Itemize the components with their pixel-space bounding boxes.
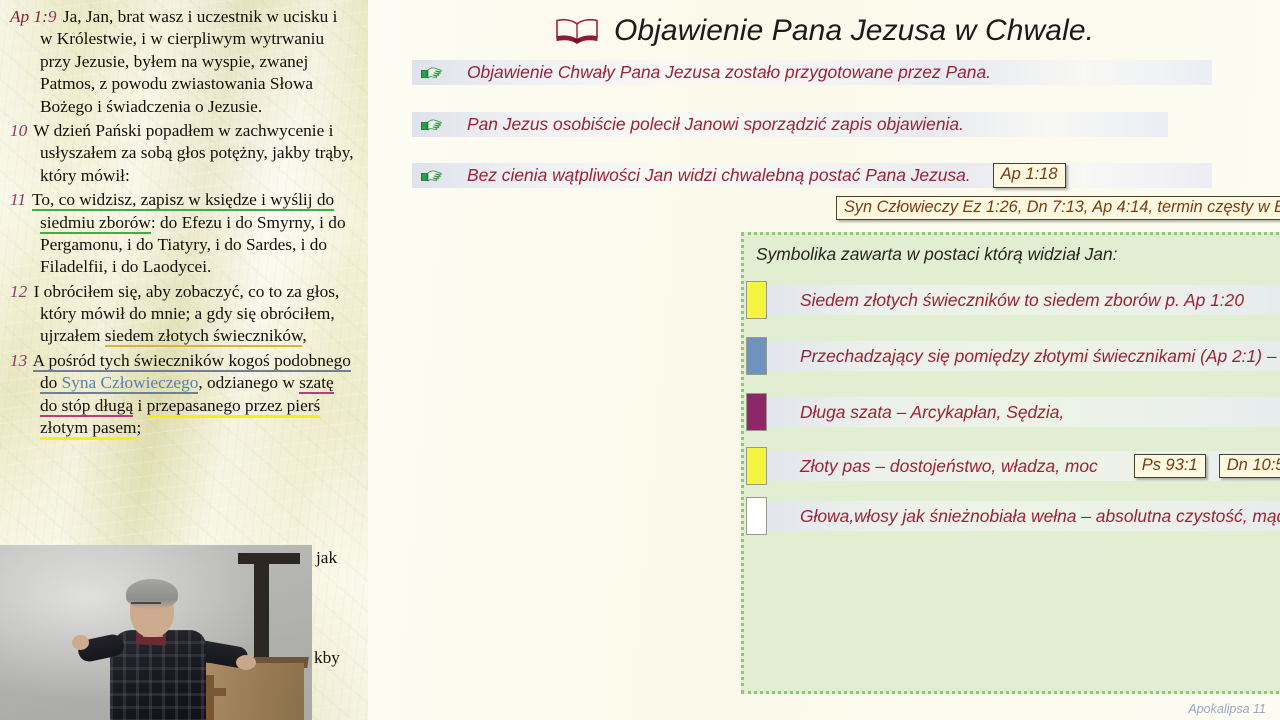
occluded-fragment-kby: kby <box>314 648 340 668</box>
symbolism-row-4[interactable]: Złoty pas – dostojeństwo, władza, moc Ps… <box>744 447 1280 485</box>
video-beam-vertical <box>254 553 269 673</box>
pointing-hand-icon <box>420 168 442 184</box>
video-presenter-glasses <box>131 602 161 609</box>
bullet-item-3[interactable]: Bez cienia wątpliwości Jan widzi chwaleb… <box>412 163 1272 188</box>
verse-highlight-gold: siedem złotych świeczników <box>105 326 303 347</box>
bullet-label: Objawienie Chwały Pana Jezusa zostało pr… <box>467 62 991 83</box>
verse-body: i <box>133 396 146 415</box>
symbolism-panel: Symbolika zawarta w postaci którą widzia… <box>741 232 1280 694</box>
color-swatch-white <box>746 497 767 535</box>
symbolism-heading: Symbolika zawarta w postaci którą widzia… <box>756 244 1117 265</box>
video-cross-vertical <box>205 675 214 720</box>
verse-12: 12 I obróciłem się, aby zobaczyć, co to … <box>10 281 354 348</box>
video-beam-horizontal <box>238 553 300 564</box>
symbolism-label: Przechadzający się pomiędzy złotymi świe… <box>800 346 1280 367</box>
symbolism-row-1[interactable]: Siedem złotych świeczników to siedem zbo… <box>744 281 1280 319</box>
verse-number: 9 <box>48 7 59 26</box>
reference-badge-ap-1-18[interactable]: Ap 1:18 <box>993 163 1066 187</box>
verse-number: 10 <box>10 121 29 140</box>
slide-stage: Ap 1:9 Ja, Jan, brat wasz i uczestnik w … <box>0 0 1280 720</box>
verse-number: 13 <box>10 351 29 370</box>
symbolism-label: Długa szata – Arcykapłan, Sędzia, <box>800 402 1064 423</box>
pointing-hand-icon <box>420 117 442 133</box>
scripture-column: Ap 1:9 Ja, Jan, brat wasz i uczestnik w … <box>0 0 368 720</box>
symbolism-label: Złoty pas – dostojeństwo, władza, moc <box>800 456 1098 477</box>
verse-body-tail: , <box>302 326 306 345</box>
bullet-item-1[interactable]: Objawienie Chwały Pana Jezusa zostało pr… <box>412 60 1212 85</box>
pointing-hand-icon <box>420 65 442 81</box>
slide-footer: Apokalipsa 11 <box>1188 702 1266 716</box>
reference-badge-ps-93-1[interactable]: Ps 93:1 <box>1134 454 1206 478</box>
symbolism-row-3[interactable]: Długa szata – Arcykapłan, Sędzia, Dn 10:… <box>744 393 1280 431</box>
symbolism-label: Siedem złotych świeczników to siedem zbo… <box>800 290 1244 311</box>
color-swatch-blue <box>746 337 767 375</box>
color-swatch-purple <box>746 393 767 431</box>
verse-9: Ap 1:9 Ja, Jan, brat wasz i uczestnik w … <box>10 6 354 118</box>
verse-body-tail: ; <box>136 418 141 437</box>
slide-content-panel: Objawienie Pana Jezusa w Chwale. Objawie… <box>368 0 1280 720</box>
verse-10: 10 W dzień Pański popadłem w zachwycenie… <box>10 120 354 187</box>
verse-number: 12 <box>10 282 29 301</box>
reference-badge-syn-czlowieczy[interactable]: Syn Człowieczy Ez 1:26, Dn 7:13, Ap 4:14… <box>836 196 1280 220</box>
symbolism-row-2[interactable]: Przechadzający się pomiędzy złotymi świe… <box>744 337 1280 375</box>
presenter-video[interactable] <box>0 545 312 720</box>
verse-number: 11 <box>10 190 28 209</box>
slide-title-row: Objawienie Pana Jezusa w Chwale. <box>368 8 1280 54</box>
bullet-item-2[interactable]: Pan Jezus osobiście polecił Janowi sporz… <box>412 112 1168 137</box>
open-book-icon <box>554 16 600 46</box>
verse-son-of-man: Syna Człowieczego <box>62 373 199 394</box>
color-swatch-yellow <box>746 281 767 319</box>
reference-badge-dn-10-5[interactable]: Dn 10:5 <box>1219 454 1280 478</box>
bullet-label: Pan Jezus osobiście polecił Janowi sporz… <box>467 114 964 135</box>
symbolism-label: Głowa,włosy jak śnieżnobiała wełna – abs… <box>800 506 1280 527</box>
verse-body: W dzień Pański popadłem w zachwycenie i … <box>33 121 353 185</box>
video-presenter-hand-right <box>236 655 256 670</box>
verse-13: 13 A pośród tych świeczników kogoś podob… <box>10 350 354 440</box>
verse-book-ref: Ap 1: <box>10 7 48 26</box>
page-title: Objawienie Pana Jezusa w Chwale. <box>614 14 1094 48</box>
symbolism-row-5[interactable]: Głowa,włosy jak śnieżnobiała wełna – abs… <box>744 497 1280 535</box>
video-presenter-hand-left <box>72 635 89 650</box>
scripture-text-block: Ap 1:9 Ja, Jan, brat wasz i uczestnik w … <box>0 0 368 439</box>
symbolism-refs: Ps 93:1 Dn 10:5 <box>1134 454 1280 478</box>
occluded-fragment-jak: jak <box>316 548 337 568</box>
verse-11: 11 To, co widzisz, zapisz w księdze i wy… <box>10 189 354 279</box>
bullet-label: Bez cienia wątpliwości Jan widzi chwaleb… <box>467 165 971 186</box>
color-swatch-yellow <box>746 447 767 485</box>
verse-body: Ja, Jan, brat wasz i uczestnik w ucisku … <box>40 7 337 116</box>
verse-body: , odzianego w <box>198 373 299 392</box>
